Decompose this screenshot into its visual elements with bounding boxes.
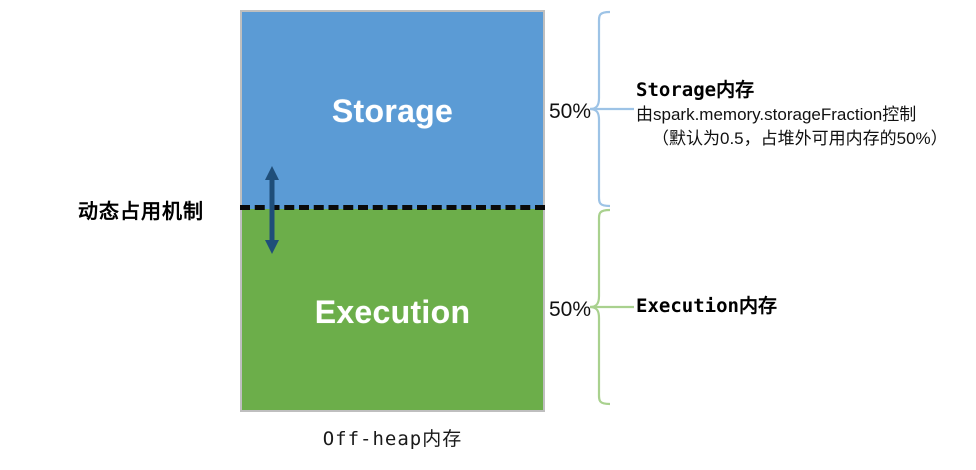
storage-memory-block: Storage [242, 12, 543, 209]
storage-annotation-line-2: （默认为0.5，占堆外可用内存的50%） [636, 127, 948, 152]
storage-annotation-title: Storage内存 [636, 78, 948, 103]
off-heap-memory-caption: Off-heap内存 [240, 424, 545, 451]
storage-brace-icon [588, 10, 638, 208]
off-heap-memory-column: Storage Execution [240, 10, 545, 412]
execution-annotation: Execution内存 [636, 294, 777, 319]
storage-percent-label: 50% [549, 100, 591, 124]
execution-block-label: Execution [315, 296, 471, 328]
storage-annotation: Storage内存 由spark.memory.storageFraction控… [636, 78, 948, 152]
storage-annotation-line-1: 由spark.memory.storageFraction控制 [636, 103, 948, 128]
execution-percent-label: 50% [549, 298, 591, 322]
execution-brace-icon [588, 208, 638, 406]
execution-memory-block: Execution [242, 209, 543, 412]
dynamic-boundary-divider [240, 205, 545, 210]
dynamic-occupancy-label: 动态占用机制 [78, 195, 204, 224]
execution-annotation-title: Execution内存 [636, 294, 777, 319]
storage-block-label: Storage [332, 95, 453, 127]
dynamic-occupancy-arrow-icon [262, 166, 282, 254]
